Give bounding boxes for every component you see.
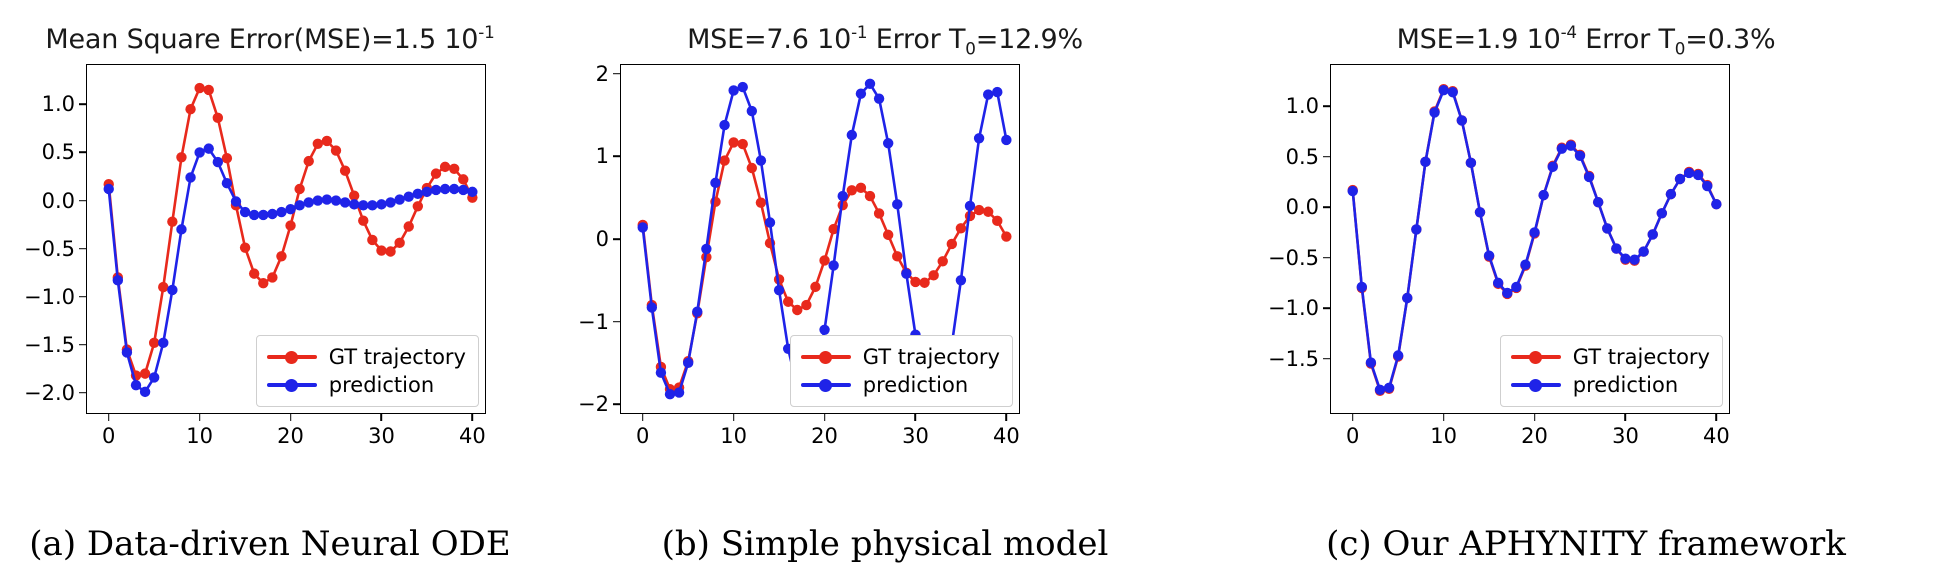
panel-a-plot-area: 1.00.50.0−0.5−1.0−1.5−2.0010203040GT tra…	[86, 64, 486, 414]
y-tick-mark	[1323, 156, 1330, 158]
y-tick-mark	[1323, 257, 1330, 259]
panel-b-title: MSE=7.6 10-1 Error T0=12.9%	[540, 22, 1230, 58]
panel-a-title-main: Mean Square Error(MSE)=1.5 10	[45, 24, 478, 55]
panel-c-title-subscript: 0	[1675, 38, 1685, 58]
y-tick-mark	[79, 296, 86, 298]
y-tick-label: −1.5	[1268, 347, 1319, 371]
legend[interactable]: GT trajectoryprediction	[256, 335, 479, 407]
y-tick-label: −2.0	[24, 381, 75, 405]
legend-item-gt-trajectory[interactable]: GT trajectory	[267, 343, 466, 371]
y-tick-label: 2	[596, 62, 609, 86]
y-tick-label: 0.0	[42, 189, 75, 213]
x-tick-mark	[915, 414, 917, 421]
panel-b-title-subscript: 0	[965, 38, 975, 58]
legend[interactable]: GT trajectoryprediction	[790, 335, 1013, 407]
y-tick-mark	[613, 321, 620, 323]
panel-a-title-exponent: -1	[478, 22, 494, 42]
x-tick-label: 20	[277, 424, 304, 448]
panel-c: MSE=1.9 10-4 Error T0=0.3% 1.00.50.0−0.5…	[1230, 0, 1942, 576]
y-tick-mark	[613, 156, 620, 158]
x-tick-mark	[1443, 414, 1445, 421]
x-tick-label: 30	[368, 424, 395, 448]
legend[interactable]: GT trajectoryprediction	[1500, 335, 1723, 407]
y-tick-label: 0.5	[1286, 145, 1319, 169]
panel-b: MSE=7.6 10-1 Error T0=12.9% 210−1−201020…	[540, 0, 1230, 576]
legend-label: prediction	[329, 373, 434, 397]
legend-swatch-icon	[267, 348, 317, 366]
y-tick-label: 0	[596, 227, 609, 251]
x-tick-label: 30	[902, 424, 929, 448]
y-tick-label: 1.0	[42, 92, 75, 116]
y-tick-label: −1.5	[24, 333, 75, 357]
y-tick-label: −0.5	[24, 237, 75, 261]
x-tick-label: 10	[186, 424, 213, 448]
x-tick-mark	[1625, 414, 1627, 421]
y-tick-label: −1.0	[24, 285, 75, 309]
panel-b-title-tail2: =12.9%	[976, 24, 1083, 55]
legend-label: GT trajectory	[329, 345, 466, 369]
panel-a-title: Mean Square Error(MSE)=1.5 10-1	[0, 22, 540, 55]
panel-a-subcaption: (a) Data-driven Neural ODE	[0, 524, 540, 564]
legend-swatch-icon	[1511, 348, 1561, 366]
x-tick-mark	[1352, 414, 1354, 421]
x-tick-label: 10	[720, 424, 747, 448]
y-tick-mark	[79, 248, 86, 250]
y-tick-mark	[79, 200, 86, 202]
y-tick-label: −2	[578, 392, 609, 416]
panel-b-title-tail: Error T	[867, 24, 965, 55]
x-tick-label: 20	[1521, 424, 1548, 448]
y-tick-label: 0.5	[42, 140, 75, 164]
x-tick-label: 40	[1703, 424, 1730, 448]
legend-swatch-icon	[1511, 376, 1561, 394]
y-tick-mark	[613, 403, 620, 405]
x-tick-mark	[733, 414, 735, 421]
y-tick-mark	[1323, 106, 1330, 108]
y-tick-mark	[79, 104, 86, 106]
panel-a: Mean Square Error(MSE)=1.5 10-1 1.00.50.…	[0, 0, 540, 576]
legend-swatch-icon	[267, 376, 317, 394]
y-tick-label: 1	[596, 144, 609, 168]
x-tick-label: 0	[102, 424, 115, 448]
x-tick-label: 40	[993, 424, 1020, 448]
legend-label: prediction	[863, 373, 968, 397]
x-tick-label: 10	[1430, 424, 1457, 448]
y-tick-label: 1.0	[1286, 94, 1319, 118]
x-tick-mark	[1534, 414, 1536, 421]
panel-b-title-main: MSE=7.6 10	[687, 24, 851, 55]
x-tick-label: 0	[1346, 424, 1359, 448]
y-tick-label: −1.0	[1268, 296, 1319, 320]
panel-c-plot-area: 1.00.50.0−0.5−1.0−1.5010203040GT traject…	[1330, 64, 1730, 414]
panel-c-title-main: MSE=1.9 10	[1397, 24, 1561, 55]
x-tick-label: 30	[1612, 424, 1639, 448]
panel-c-title-exponent: -4	[1561, 22, 1577, 42]
x-tick-mark	[472, 414, 474, 421]
x-tick-mark	[381, 414, 383, 421]
legend-swatch-icon	[801, 376, 851, 394]
x-tick-mark	[1006, 414, 1008, 421]
x-tick-mark	[108, 414, 110, 421]
y-tick-mark	[79, 344, 86, 346]
x-tick-mark	[642, 414, 644, 421]
legend-item-prediction[interactable]: prediction	[1511, 371, 1710, 399]
y-tick-label: −0.5	[1268, 246, 1319, 270]
legend-item-prediction[interactable]: prediction	[267, 371, 466, 399]
panel-c-title-tail: Error T	[1577, 24, 1675, 55]
y-tick-mark	[613, 73, 620, 75]
panel-c-title: MSE=1.9 10-4 Error T0=0.3%	[1230, 22, 1942, 58]
y-tick-mark	[613, 238, 620, 240]
panel-c-subcaption: (c) Our APHYNITY framework	[1230, 524, 1942, 564]
x-tick-mark	[824, 414, 826, 421]
x-tick-label: 40	[459, 424, 486, 448]
y-tick-mark	[79, 392, 86, 394]
x-tick-label: 20	[811, 424, 838, 448]
x-tick-mark	[199, 414, 201, 421]
legend-label: GT trajectory	[1573, 345, 1710, 369]
panel-c-title-tail2: =0.3%	[1685, 24, 1775, 55]
legend-swatch-icon	[801, 348, 851, 366]
legend-label: GT trajectory	[863, 345, 1000, 369]
y-tick-label: 0.0	[1286, 195, 1319, 219]
legend-item-gt-trajectory[interactable]: GT trajectory	[801, 343, 1000, 371]
legend-label: prediction	[1573, 373, 1678, 397]
y-tick-label: −1	[578, 310, 609, 334]
panel-b-plot-area: 210−1−2010203040GT trajectoryprediction	[620, 64, 1020, 414]
x-tick-mark	[1716, 414, 1718, 421]
x-tick-mark	[290, 414, 292, 421]
panel-b-title-exponent: -1	[851, 22, 867, 42]
x-tick-label: 0	[636, 424, 649, 448]
figure-root: Mean Square Error(MSE)=1.5 10-1 1.00.50.…	[0, 0, 1942, 576]
panel-b-subcaption: (b) Simple physical model	[540, 524, 1230, 564]
y-tick-mark	[1323, 206, 1330, 208]
y-tick-mark	[1323, 358, 1330, 360]
legend-item-prediction[interactable]: prediction	[801, 371, 1000, 399]
y-tick-mark	[79, 152, 86, 154]
legend-item-gt-trajectory[interactable]: GT trajectory	[1511, 343, 1710, 371]
y-tick-mark	[1323, 307, 1330, 309]
